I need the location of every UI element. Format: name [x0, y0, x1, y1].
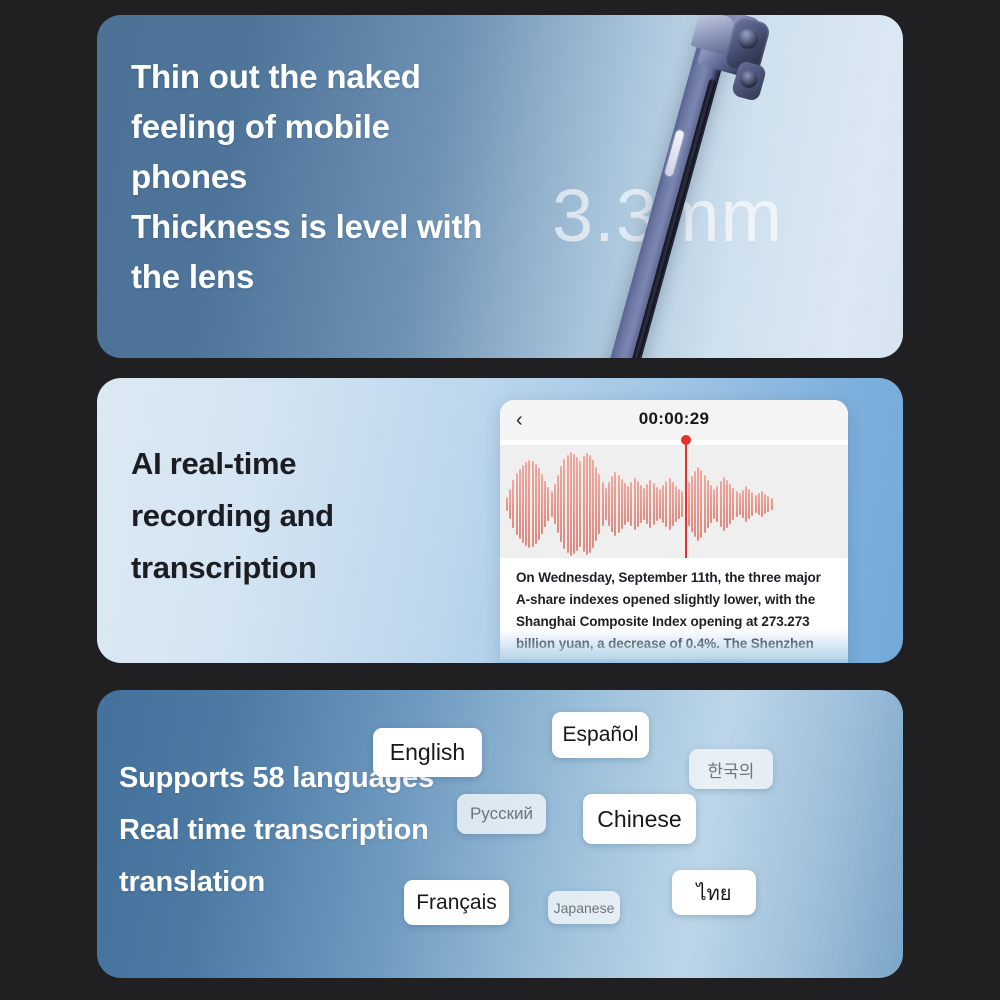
panel-thinness-headline: Thin out the naked feeling of mobile pho… — [131, 52, 561, 302]
waveform-bar — [707, 480, 709, 528]
waveform-bar — [681, 491, 683, 517]
waveform-bar — [755, 495, 757, 513]
waveform-bar — [509, 489, 511, 519]
waveform-bar — [554, 484, 556, 524]
waveform-bar — [602, 482, 604, 526]
waveform-bar — [506, 497, 508, 511]
headline-line: recording and — [131, 490, 481, 542]
waveform-bar — [646, 484, 648, 524]
waveform-bar — [525, 462, 527, 546]
waveform-bar — [611, 476, 613, 532]
waveform-bar — [528, 460, 530, 548]
waveform-bar — [567, 455, 569, 553]
waveform-bar — [720, 481, 722, 527]
headline-line: phones — [131, 152, 561, 202]
waveform-area[interactable] — [500, 440, 848, 558]
playhead-marker[interactable] — [685, 440, 687, 563]
waveform-bar — [688, 482, 690, 526]
waveform-bar — [653, 483, 655, 525]
waveform-bar — [669, 478, 671, 530]
waveform-bar — [767, 496, 769, 512]
waveform-bar — [656, 487, 658, 521]
waveform-bar — [672, 482, 674, 526]
waveform-bar — [547, 487, 549, 521]
panel-languages: Supports 58 languages Real time transcri… — [97, 690, 903, 978]
waveform-bar — [630, 482, 632, 526]
language-chip-espanol[interactable]: Español — [552, 712, 649, 758]
waveform-bar — [748, 489, 750, 519]
waveform-bar — [538, 468, 540, 540]
headline-line: the lens — [131, 252, 561, 302]
waveform-bar — [745, 486, 747, 522]
waveform-bar — [563, 459, 565, 549]
waveform-bar — [710, 485, 712, 523]
waveform-bar — [618, 475, 620, 533]
waveform-bar — [697, 467, 699, 541]
waveform-bar — [742, 490, 744, 518]
waveform-bar — [595, 467, 597, 541]
waveform-bar — [736, 491, 738, 517]
language-chip-thai[interactable]: ไทย — [672, 870, 756, 915]
waveform-bar — [627, 486, 629, 522]
waveform-bar — [608, 482, 610, 526]
waveform-bar — [640, 485, 642, 523]
waveform-bar — [643, 488, 645, 520]
headline-line: transcription — [131, 542, 481, 594]
waveform-bar — [691, 476, 693, 532]
phone-side-button — [664, 130, 684, 177]
waveform-bar — [739, 493, 741, 515]
waveform-bar — [758, 493, 760, 515]
phone-screen-edge — [630, 78, 717, 358]
phone-illustration — [577, 15, 903, 358]
waveform-bar — [659, 489, 661, 519]
audio-waveform[interactable] — [506, 445, 773, 563]
language-chip-japanese[interactable]: Japanese — [548, 891, 620, 924]
recording-timer: 00:00:29 — [500, 409, 848, 429]
waveform-bar — [541, 474, 543, 534]
waveform-bar — [621, 479, 623, 529]
waveform-bar — [570, 452, 572, 556]
waveform-bar — [535, 464, 537, 544]
transcript-text: On Wednesday, September 11th, the three … — [516, 567, 832, 663]
language-chip-russian[interactable]: Русский — [457, 794, 546, 834]
panel-thinness: Thin out the naked feeling of mobile pho… — [97, 15, 903, 358]
waveform-bar — [624, 483, 626, 525]
waveform-bar — [713, 489, 715, 519]
waveform-bar — [576, 457, 578, 551]
waveform-bar — [586, 453, 588, 555]
recorder-app-card: ‹ 00:00:29 On Wednesday, September 11th,… — [500, 400, 848, 663]
language-chip-french[interactable]: Français — [404, 880, 509, 925]
waveform-bar — [694, 471, 696, 537]
waveform-bar — [678, 489, 680, 519]
transcript-area[interactable]: On Wednesday, September 11th, the three … — [500, 558, 848, 663]
language-chip-korean[interactable]: 한국의 — [689, 749, 773, 789]
product-feature-page: Thin out the naked feeling of mobile pho… — [0, 0, 1000, 1000]
headline-line: Thin out the naked — [131, 52, 561, 102]
waveform-bar — [605, 488, 607, 520]
waveform-bar — [592, 460, 594, 548]
waveform-bar — [589, 455, 591, 553]
waveform-bar — [649, 480, 651, 528]
waveform-bar — [732, 488, 734, 520]
headline-line: AI real-time — [131, 438, 481, 490]
waveform-bar — [573, 454, 575, 554]
waveform-bar — [512, 480, 514, 528]
waveform-bar — [532, 461, 534, 547]
waveform-bar — [675, 486, 677, 522]
waveform-bar — [665, 481, 667, 527]
waveform-bar — [704, 475, 706, 533]
language-chip-chinese[interactable]: Chinese — [583, 794, 696, 844]
waveform-bar — [662, 485, 664, 523]
waveform-bar — [583, 456, 585, 552]
waveform-bar — [544, 481, 546, 527]
waveform-bar — [723, 477, 725, 531]
waveform-bar — [761, 491, 763, 517]
waveform-bar — [519, 469, 521, 539]
waveform-bar — [637, 481, 639, 527]
waveform-bar — [522, 465, 524, 543]
waveform-bar — [764, 494, 766, 514]
recorder-top-bar: ‹ 00:00:29 — [500, 400, 848, 440]
waveform-bar — [700, 470, 702, 538]
waveform-bar — [551, 491, 553, 517]
waveform-bar — [560, 466, 562, 542]
waveform-bar — [516, 473, 518, 535]
waveform-bar — [716, 486, 718, 522]
headline-line: Thickness is level with — [131, 202, 561, 252]
waveform-bar — [598, 474, 600, 534]
headline-line: feeling of mobile — [131, 102, 561, 152]
waveform-bar — [726, 480, 728, 528]
waveform-bar — [557, 475, 559, 533]
panel-recording-headline: AI real-time recording and transcription — [131, 438, 481, 594]
waveform-bar — [751, 492, 753, 516]
waveform-bar — [579, 461, 581, 547]
waveform-bar — [634, 478, 636, 530]
waveform-bar — [771, 498, 773, 510]
waveform-bar — [729, 484, 731, 524]
waveform-bar — [614, 472, 616, 536]
language-chip-english[interactable]: English — [373, 728, 482, 777]
panel-recording: AI real-time recording and transcription… — [97, 378, 903, 663]
